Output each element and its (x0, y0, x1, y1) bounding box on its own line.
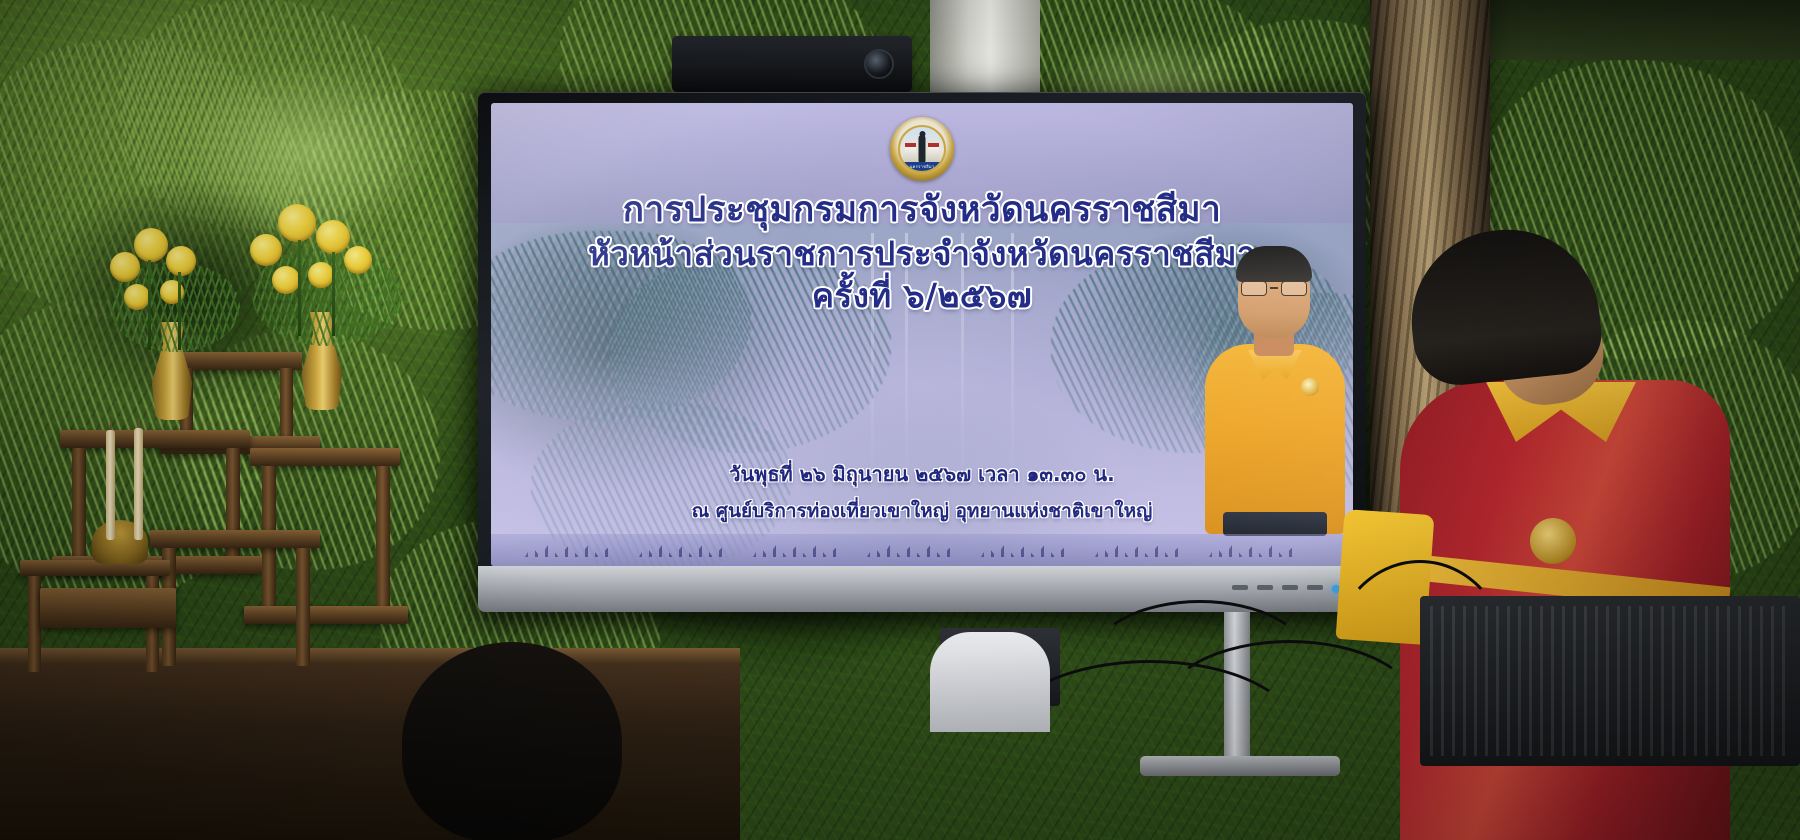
attendee-chest-logo-icon (1530, 518, 1576, 564)
altar-leg (296, 548, 310, 666)
presenter-hair (1236, 246, 1312, 282)
presenter-trousers (1223, 512, 1327, 536)
marigold-flower (308, 262, 334, 288)
conference-camera (672, 36, 912, 92)
seal-inner: นครราชสีมา (898, 125, 946, 173)
flower-stem (298, 240, 301, 336)
slide-title-line-1: การประชุมกรมการจังหวัดนครราชสีมา (491, 189, 1353, 232)
wooden-table (0, 648, 740, 840)
attendee-hair (1403, 221, 1606, 390)
flower-stem (148, 260, 151, 350)
marigold-flower (250, 234, 282, 266)
marigold-flower (134, 228, 168, 262)
camera-lens-icon (864, 49, 894, 79)
seated-person-white-shirt (930, 632, 1050, 732)
border-motif (753, 539, 837, 561)
glasses-lens-right (1281, 281, 1307, 296)
altar-leg (376, 466, 390, 616)
slide-decorative-border (491, 534, 1353, 566)
altar-leg (72, 448, 86, 566)
presenter-badge-icon (1301, 378, 1319, 396)
table-edge (0, 648, 740, 664)
marigold-cluster-left (104, 222, 254, 332)
display-button-row[interactable] (1232, 585, 1340, 593)
presenter-glasses-icon (1241, 280, 1307, 296)
altar-leg (226, 448, 240, 566)
glasses-lens-left (1241, 281, 1267, 296)
seal-ribbon-label: นครราชสีมา (900, 162, 944, 171)
marigold-flower (316, 220, 350, 254)
photo-scene: นครราชสีมา การประชุมกรมการจังหวัดนครราชส… (0, 0, 1800, 840)
border-motif (1095, 539, 1179, 561)
border-motif (639, 539, 723, 561)
border-motif (1209, 539, 1293, 561)
display-input-button[interactable] (1307, 585, 1323, 590)
provincial-seal-icon: นครราชสีมา (890, 117, 954, 181)
marigold-flower (278, 204, 316, 242)
altar-shelf (20, 560, 170, 576)
flower-stem (178, 272, 181, 350)
altar-shelf (244, 606, 408, 624)
border-motif (981, 539, 1065, 561)
flower-stem (332, 252, 335, 336)
marigold-flower (110, 252, 140, 282)
display-menu-button[interactable] (1232, 585, 1248, 590)
seal-gate-right (928, 143, 939, 163)
yellow-candle (134, 428, 143, 540)
glasses-bridge (1270, 287, 1278, 289)
altar-box (40, 588, 176, 628)
seal-gate-left (905, 143, 916, 163)
altar-shelf (250, 448, 400, 466)
marigold-flower (344, 246, 372, 274)
border-motif (867, 539, 951, 561)
border-motif (525, 539, 609, 561)
altar-shelf (150, 530, 320, 548)
seal-statue-figure (919, 135, 926, 162)
altar-shelf (60, 430, 250, 448)
presenter-portrait (1199, 234, 1349, 534)
presenter-shirt (1205, 344, 1345, 534)
av-cable (1330, 560, 1510, 760)
marigold-flower (166, 246, 196, 276)
marigold-flower (272, 266, 300, 294)
yellow-candle (106, 430, 115, 540)
marigold-flower (124, 284, 150, 310)
display-plus-button[interactable] (1282, 585, 1298, 590)
display-screen[interactable]: นครราชสีมา การประชุมกรมการจังหวัดนครราชส… (491, 103, 1353, 566)
marigold-cluster-right (246, 200, 416, 320)
wall-mounted-display[interactable]: นครราชสีมา การประชุมกรมการจังหวัดนครราชส… (478, 92, 1366, 612)
foreground-head-silhouette (402, 642, 622, 840)
display-minus-button[interactable] (1257, 585, 1273, 590)
